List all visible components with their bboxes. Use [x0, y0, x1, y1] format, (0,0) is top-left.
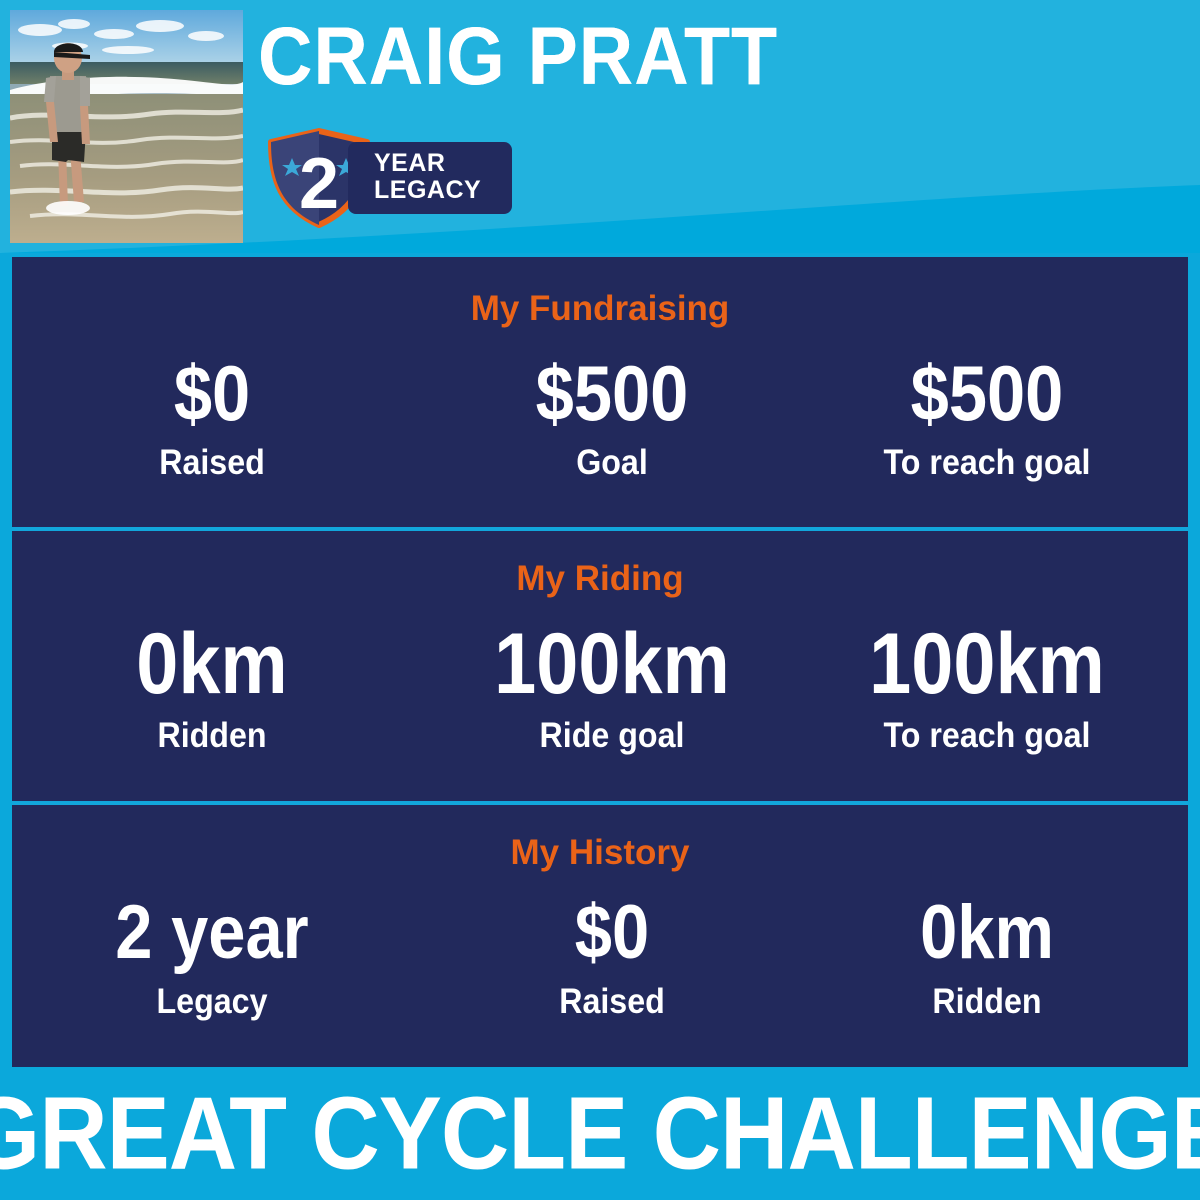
section-fundraising: My Fundraising $0 Raised $500 Goal $500 …: [12, 257, 1188, 527]
stat-value: 2 year: [115, 893, 308, 973]
legacy-badge-line2: LEGACY: [374, 177, 481, 204]
legacy-badge-plate-text: YEAR LEGACY: [374, 150, 481, 204]
stat-riding-ride-goal: 100km Ride goal: [478, 619, 746, 755]
legacy-badge: 2 YEAR LEGACY: [262, 128, 512, 228]
footer-logo-text: GREAT CYCLE CHALLENGE: [0, 1080, 1200, 1188]
stat-label: Raised: [159, 444, 265, 482]
stat-label: Raised: [559, 983, 665, 1021]
athlete-photo: [10, 10, 243, 243]
stat-label: Legacy: [111, 983, 313, 1021]
stat-label: Ride goal: [489, 717, 735, 755]
stat-label: Ridden: [133, 717, 291, 755]
stat-value: $0: [561, 893, 662, 973]
stat-label: Ridden: [917, 983, 1057, 1021]
stat-value: 100km: [869, 619, 1105, 709]
legacy-badge-plate: YEAR LEGACY: [348, 142, 512, 214]
athlete-photo-image: [10, 10, 243, 243]
stat-value: 0km: [920, 893, 1054, 973]
section-history: My History 2 year Legacy $0 Raised 0km R…: [12, 805, 1188, 1067]
stat-value: 0km: [136, 619, 287, 709]
stat-fundraising-to-reach-goal: $500 To reach goal: [875, 352, 1100, 482]
stat-value: 100km: [494, 619, 730, 709]
stat-riding-to-reach-goal: 100km To reach goal: [853, 619, 1121, 755]
legacy-badge-line1: YEAR: [374, 150, 481, 177]
stat-label: Goal: [532, 444, 692, 482]
stat-label: To reach goal: [864, 717, 1110, 755]
fundraiser-profile-card: CRAIG PRATT 2 YEAR LEGACY: [0, 0, 1200, 1200]
section-riding: My Riding 0km Ridden 100km Ride goal 100…: [12, 531, 1188, 801]
card-header: CRAIG PRATT 2 YEAR LEGACY: [0, 0, 1200, 253]
stat-value: $0: [161, 352, 262, 434]
stat-history-ridden: 0km Ridden: [911, 893, 1063, 1021]
stat-row-history: 2 year Legacy $0 Raised 0km Ridden: [12, 805, 1188, 1067]
stat-label: To reach goal: [884, 444, 1091, 482]
stat-value: $500: [536, 352, 689, 434]
stat-fundraising-goal: $500 Goal: [525, 352, 699, 482]
stat-fundraising-raised: $0 Raised: [155, 352, 270, 482]
legacy-badge-number: 2: [299, 144, 339, 224]
stat-history-legacy: 2 year Legacy: [102, 893, 322, 1021]
stat-riding-ridden: 0km Ridden: [126, 619, 298, 755]
stat-row-fundraising: $0 Raised $500 Goal $500 To reach goal: [12, 257, 1188, 527]
great-cycle-challenge-logo: GREAT CYCLE CHALLENGE: [0, 1067, 1200, 1200]
stat-value: $500: [888, 352, 1086, 434]
athlete-name: CRAIG PRATT: [258, 14, 778, 100]
stat-row-riding: 0km Ridden 100km Ride goal 100km To reac…: [12, 531, 1188, 801]
stats-panel: My Fundraising $0 Raised $500 Goal $500 …: [12, 257, 1188, 1067]
card-footer: GREAT CYCLE CHALLENGE: [0, 1067, 1200, 1200]
stat-history-raised: $0 Raised: [555, 893, 670, 1021]
